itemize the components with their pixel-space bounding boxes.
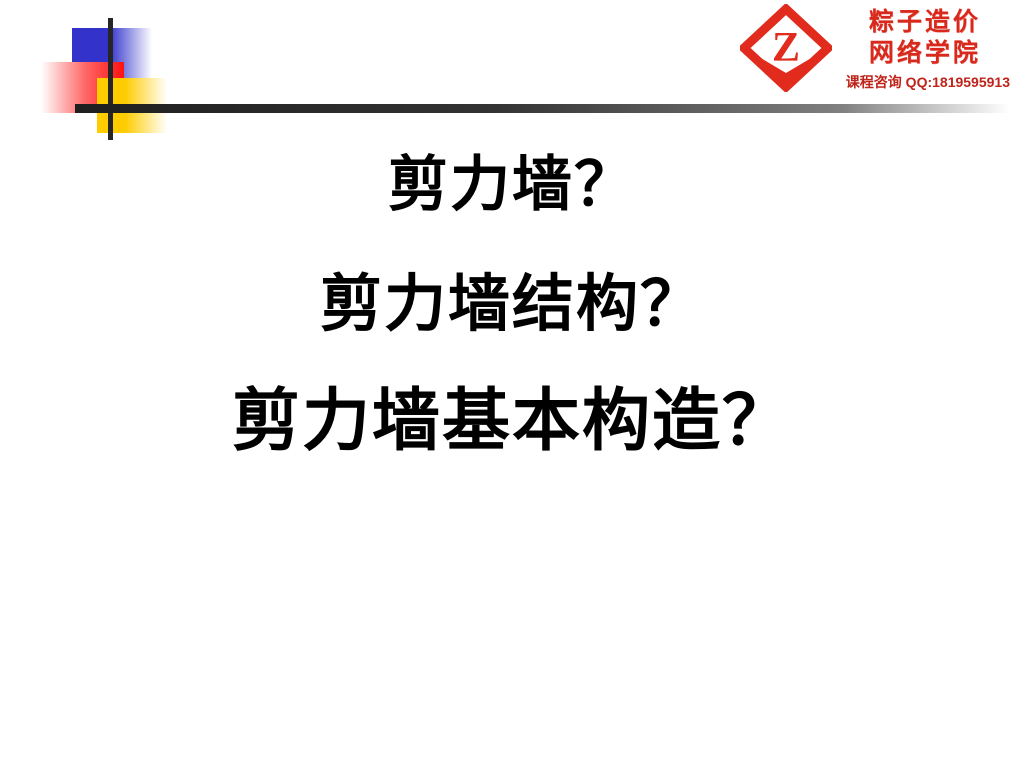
headline-group: 剪力墙？ 剪力墙结构？ 剪力墙基本构造？ bbox=[0, 155, 1024, 455]
brand-block: Z 粽子造价 网络学院 课程咨询 QQ:1819595913 bbox=[740, 4, 1010, 92]
svg-text:Z: Z bbox=[772, 25, 800, 71]
slide-canvas: Z 粽子造价 网络学院 课程咨询 QQ:1819595913 剪力墙？ 剪力墙结… bbox=[0, 0, 1024, 768]
decoration-horizontal-bar bbox=[75, 104, 1010, 113]
headline-line-2: 剪力墙结构？ bbox=[0, 273, 1024, 335]
brand-logo-diamond-icon: Z bbox=[740, 4, 832, 92]
decoration-vertical-bar bbox=[108, 18, 113, 140]
brand-name-line-1: 粽子造价 bbox=[869, 8, 981, 39]
brand-name-line-2: 网络学院 bbox=[869, 39, 981, 70]
brand-text-block: 粽子造价 网络学院 课程咨询 QQ:1819595913 bbox=[840, 4, 1010, 92]
headline-line-3: 剪力墙基本构造？ bbox=[0, 387, 1024, 455]
brand-contact-qq: 课程咨询 QQ:1819595913 bbox=[846, 72, 1010, 92]
headline-line-1: 剪力墙？ bbox=[0, 155, 1024, 215]
